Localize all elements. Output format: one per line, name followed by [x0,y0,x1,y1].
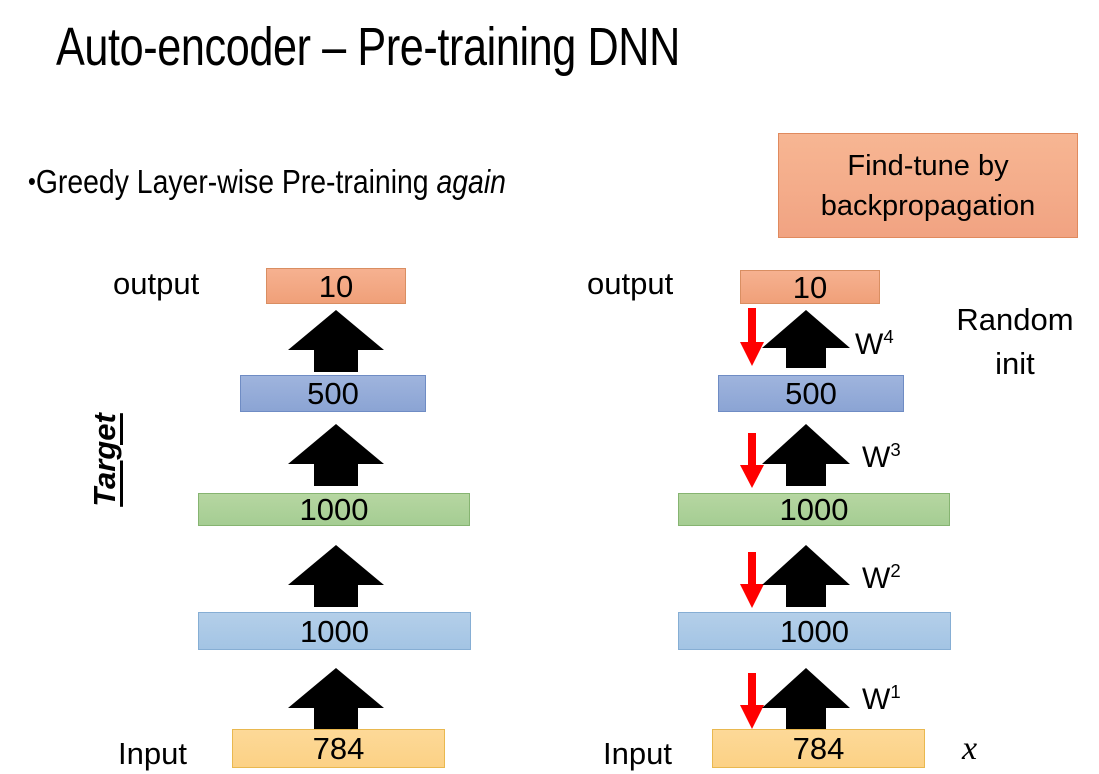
left-layer-value-10: 10 [319,271,353,302]
right-up-arrow-1 [762,668,850,730]
weight-base-w2: W [862,562,890,595]
weight-exponent-w1: 1 [890,681,900,702]
right-layer-value-1000-green: 1000 [780,494,849,525]
finetune-callout-line2: backpropagation [821,186,1035,226]
left-layer-value-1000-green: 1000 [300,494,369,525]
page-title: Auto-encoder – Pre-training DNN [56,12,680,82]
left-layer-box-500: 500 [240,375,426,412]
bullet-text: Greedy Layer-wise Pre-training [36,163,437,200]
weight-exponent-w2: 2 [890,560,900,581]
weight-exponent-w4: 4 [883,326,893,347]
random-init-line2: init [940,342,1090,386]
right-up-arrow-2 [762,545,850,607]
weight-label-w4: W4 [855,328,894,360]
right-layer-value-784: 784 [793,733,845,764]
right-layer-box-784: 784 [712,729,925,768]
right-layer-box-1000-green: 1000 [678,493,950,526]
left-up-arrow-1 [288,668,384,730]
left-output-label: output [113,268,199,299]
right-layer-box-10: 10 [740,270,880,304]
bullet-dot-icon: • [28,166,36,196]
input-x-symbol: x [962,729,977,769]
right-up-arrow-4 [762,310,850,368]
left-layer-value-1000-blue: 1000 [300,616,369,647]
left-target-label: Target [85,395,125,525]
right-down-arrow-1 [740,673,764,729]
weight-label-w3: W3 [862,441,901,473]
left-layer-value-784: 784 [313,733,365,764]
weight-label-w1: W1 [862,683,901,715]
left-up-arrow-3 [288,424,384,486]
left-up-arrow-2 [288,545,384,607]
right-layer-box-1000-blue: 1000 [678,612,951,650]
right-down-arrow-4 [740,308,764,366]
bullet-line: •Greedy Layer-wise Pre-training again [28,160,506,203]
right-layer-box-500: 500 [718,375,904,412]
right-layer-value-1000-blue: 1000 [780,616,849,647]
weight-label-w2: W2 [862,562,901,594]
left-layer-box-1000-green: 1000 [198,493,470,526]
weight-base-w1: W [862,683,890,716]
finetune-callout-line1: Find-tune by [847,146,1008,186]
weight-base-w3: W [862,441,890,474]
finetune-callout-box: Find-tune by backpropagation [778,133,1078,238]
right-input-label: Input [603,738,672,769]
right-layer-value-500: 500 [785,378,837,409]
left-layer-box-784: 784 [232,729,445,768]
right-output-label: output [587,268,673,299]
right-layer-value-10: 10 [793,272,827,303]
right-down-arrow-2 [740,552,764,608]
left-layer-box-1000-blue: 1000 [198,612,471,650]
weight-base-w4: W [855,328,883,361]
random-init-line1: Random [940,298,1090,342]
left-layer-value-500: 500 [307,378,359,409]
left-input-label: Input [118,738,187,769]
random-init-label: Random init [940,298,1090,386]
weight-exponent-w3: 3 [890,439,900,460]
right-down-arrow-3 [740,433,764,488]
left-layer-box-10: 10 [266,268,406,304]
left-up-arrow-4 [288,310,384,372]
right-up-arrow-3 [762,424,850,486]
bullet-emphasis: again [436,163,505,200]
